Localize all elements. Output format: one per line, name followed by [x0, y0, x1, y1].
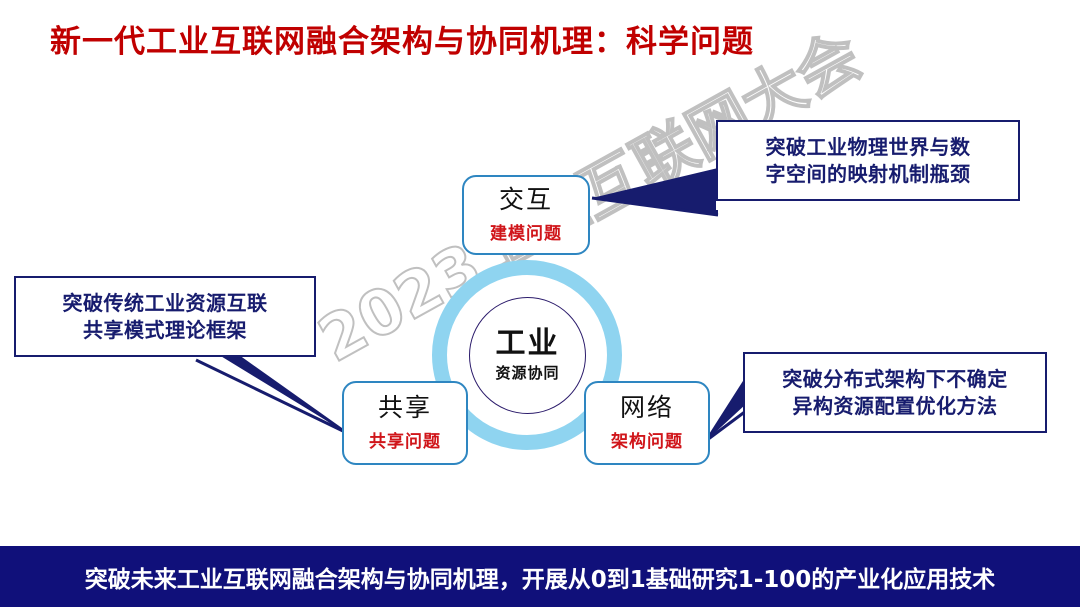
- callout-share-line2: 共享模式理论框架: [83, 318, 247, 342]
- center-main-label: 工业: [496, 328, 560, 360]
- node-interaction-title: 交互: [499, 186, 553, 214]
- callout-network[interactable]: 突破分布式架构下不确定 异构资源配置优化方法: [743, 352, 1047, 433]
- node-share[interactable]: 共享 共享问题: [342, 381, 468, 465]
- center-circle: 工业 资源协同: [469, 297, 586, 414]
- callout-interaction[interactable]: 突破工业物理世界与数 字空间的映射机制瓶颈: [716, 120, 1020, 201]
- callout-network-line2: 异构资源配置优化方法: [793, 394, 998, 418]
- callout-share[interactable]: 突破传统工业资源互联 共享模式理论框架: [14, 276, 316, 357]
- callout-share-text: 突破传统工业资源互联 共享模式理论框架: [63, 290, 268, 343]
- bottom-banner-text: 突破未来工业互联网融合架构与协同机理，开展从0到1基础研究1-100的产业化应用…: [85, 560, 996, 594]
- connector-network: [707, 379, 746, 440]
- bottom-banner: 突破未来工业互联网融合架构与协同机理，开展从0到1基础研究1-100的产业化应用…: [0, 543, 1080, 607]
- diagram-canvas: 2023工业互联网大会 工业 资源协同 交互 建模问题 共享 共享问题 网络 架…: [0, 0, 1080, 543]
- callout-interaction-line1: 突破工业物理世界与数: [766, 135, 971, 159]
- callout-network-text: 突破分布式架构下不确定 异构资源配置优化方法: [782, 366, 1008, 419]
- node-share-title: 共享: [378, 394, 432, 422]
- callout-network-line1: 突破分布式架构下不确定: [782, 367, 1008, 391]
- connector-share: [206, 347, 345, 432]
- connector-network-edge: [707, 379, 746, 440]
- connector-share-edge2: [228, 349, 345, 432]
- connector-interaction: [592, 168, 718, 216]
- node-interaction-subtitle: 建模问题: [490, 219, 562, 244]
- connector-interaction-edge: [592, 198, 718, 215]
- center-sub-label: 资源协同: [495, 362, 559, 383]
- callout-share-line1: 突破传统工业资源互联: [63, 291, 268, 315]
- node-share-subtitle: 共享问题: [369, 427, 441, 452]
- node-network-title: 网络: [620, 394, 674, 422]
- callout-interaction-line2: 字空间的映射机制瓶颈: [766, 162, 971, 186]
- connector-network-edge2: [707, 411, 746, 440]
- connector-share-edge: [196, 360, 345, 432]
- node-interaction[interactable]: 交互 建模问题: [462, 175, 590, 255]
- node-network-subtitle: 架构问题: [611, 427, 683, 452]
- callout-interaction-text: 突破工业物理世界与数 字空间的映射机制瓶颈: [766, 134, 971, 187]
- node-network[interactable]: 网络 架构问题: [584, 381, 710, 465]
